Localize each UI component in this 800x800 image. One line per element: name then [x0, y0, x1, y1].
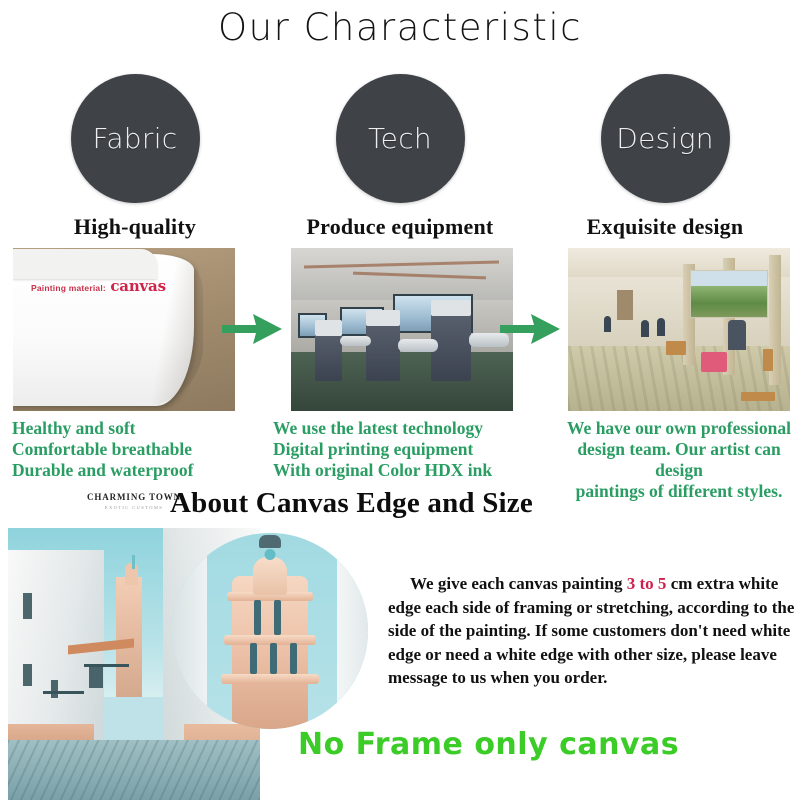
feature-column-fabric: Fabric High-quality	[2, 74, 268, 240]
no-frame-note: No Frame only canvas	[298, 727, 679, 762]
feature-badge-label: Design	[616, 122, 714, 155]
canvas-material-word: canvas	[110, 277, 165, 295]
feature-badge-label: Tech	[368, 122, 432, 155]
magnifier-inset-tower	[172, 533, 368, 729]
arrow-right-icon	[222, 312, 284, 346]
feature-caption-design: Exquisite design	[532, 214, 798, 240]
section-title-canvas-edge: About Canvas Edge and Size	[170, 487, 730, 520]
photo-canvas-material: Painting material: canvas	[13, 248, 235, 411]
feature-columns: Fabric High-quality Tech Produce equipme…	[0, 74, 800, 234]
photo-row: Painting material: canvas	[0, 248, 800, 416]
feature-caption-tech: Produce equipment	[267, 214, 533, 240]
feature-circle-design: Design	[601, 74, 730, 203]
feature-caption-fabric: High-quality	[2, 214, 268, 240]
canvas-material-label: Painting material:	[31, 283, 106, 293]
feature-column-tech: Tech Produce equipment	[267, 74, 533, 240]
green-caption-tech: We use the latest technology Digital pri…	[273, 418, 492, 481]
photo-design-studio	[568, 248, 790, 411]
green-caption-fabric: Healthy and soft Comfortable breathable …	[12, 418, 193, 481]
factory-image	[291, 248, 513, 411]
feature-circle-fabric: Fabric	[71, 74, 200, 203]
studio-image	[568, 248, 790, 411]
canvas-sheet-image	[13, 248, 235, 411]
canvas-material-overlay: Painting material: canvas	[31, 277, 166, 296]
green-caption-row: Healthy and soft Comfortable breathable …	[0, 418, 800, 484]
photo-printing-factory	[291, 248, 513, 411]
canvas-edge-description: We give each canvas painting 3 to 5 cm e…	[388, 572, 796, 690]
infographic-page: Our Characteristic Fabric High-quality T…	[0, 0, 800, 800]
description-highlight-size: 3 to 5	[627, 574, 667, 593]
page-title: Our Characteristic	[0, 6, 800, 49]
feature-badge-label: Fabric	[93, 122, 178, 155]
feature-column-design: Design Exquisite design	[532, 74, 798, 240]
arrow-right-icon	[500, 312, 562, 346]
description-text-part1: We give each canvas painting	[410, 574, 627, 593]
feature-circle-tech: Tech	[336, 74, 465, 203]
